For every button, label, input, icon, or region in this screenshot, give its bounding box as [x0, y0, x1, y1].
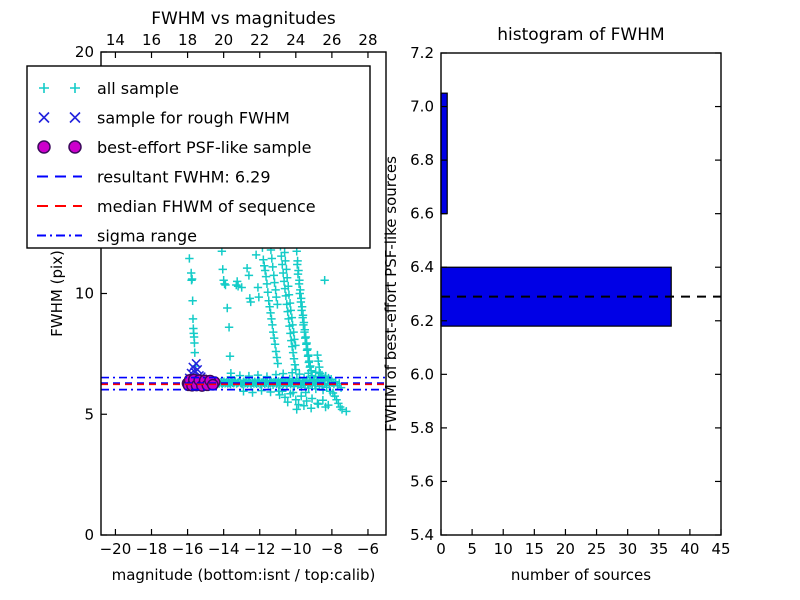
marker-plus	[190, 339, 198, 347]
legend-label-1: sample for rough FWHM	[97, 109, 290, 128]
histogram-xticklabel: 5	[467, 540, 477, 558]
scatter-top-ticklabel: 24	[286, 31, 305, 49]
marker-plus	[273, 300, 281, 308]
histogram-yticklabel: 6.2	[410, 312, 434, 330]
histogram-yticklabel: 7.2	[410, 44, 434, 62]
histogram-xticklabel: 10	[494, 540, 513, 558]
scatter-xticklabel: −10	[280, 540, 312, 558]
legend-label-3: resultant FWHM: 6.29	[97, 168, 271, 187]
histogram-yticklabel: 6.0	[410, 365, 434, 383]
histogram-xticklabel: 15	[525, 540, 544, 558]
histogram-yticklabel: 6.6	[410, 205, 434, 223]
marker-plus	[307, 404, 315, 412]
marker-plus	[272, 347, 280, 355]
scatter-top-ticklabel: 18	[178, 31, 197, 49]
legend-marker-circle	[38, 141, 50, 153]
histogram-xticklabel: 45	[711, 540, 730, 558]
scatter-yticklabel: 0	[84, 526, 94, 544]
scatter-xticklabel: −12	[244, 540, 276, 558]
scatter-top-ticklabel: 14	[106, 31, 125, 49]
marker-plus	[265, 303, 273, 311]
marker-plus	[261, 266, 269, 274]
marker-plus	[274, 359, 282, 367]
histogram-xlabel: number of sources	[511, 566, 651, 584]
histogram-ylabel: FWHM of best-effort PSF-like sources	[382, 156, 400, 432]
matplotlib-figure: FWHM vs magnitudes−20−18−16−14−12−10−8−6…	[0, 0, 800, 600]
legend-box	[27, 66, 370, 248]
legend-label-4: median FHWM of sequence	[97, 197, 316, 216]
marker-plus	[219, 265, 227, 273]
marker-plus	[303, 346, 311, 354]
marker-plus	[270, 271, 278, 279]
marker-plus	[268, 254, 276, 262]
legend-label-2: best-effort PSF-like sample	[97, 138, 311, 157]
marker-plus	[269, 263, 277, 271]
scatter-title: FWHM vs magnitudes	[151, 9, 336, 29]
histogram-plot: histogram of FWHM051015202530354045numbe…	[382, 25, 731, 584]
marker-plus	[290, 355, 298, 363]
marker-plus	[293, 405, 301, 413]
scatter-xticklabel: −20	[100, 540, 132, 558]
marker-plus	[271, 286, 279, 294]
histogram-xticklabel: 25	[587, 540, 606, 558]
marker-plus	[267, 315, 275, 323]
legend-marker-circle	[69, 141, 81, 153]
marker-plus	[270, 334, 278, 342]
marker-plus	[188, 275, 196, 283]
marker-plus	[269, 328, 277, 336]
scatter-top-ticklabel: 20	[214, 31, 233, 49]
histogram-yticklabel: 5.4	[410, 526, 434, 544]
marker-plus	[273, 353, 281, 361]
histogram-yticklabel: 7.0	[410, 98, 434, 116]
marker-plus	[191, 348, 199, 356]
marker-plus	[239, 387, 247, 395]
histogram-xticklabel: 30	[618, 540, 637, 558]
marker-plus	[291, 361, 299, 369]
marker-plus	[254, 283, 262, 291]
marker-plus	[189, 315, 197, 323]
marker-plus	[289, 348, 297, 356]
marker-plus	[255, 293, 263, 301]
marker-plus	[262, 272, 270, 280]
scatter-xlabel: magnitude (bottom:isnt / top:calib)	[112, 566, 376, 584]
marker-plus	[243, 264, 251, 272]
scatter-top-ticklabel: 26	[322, 31, 341, 49]
legend-label-0: all sample	[97, 79, 179, 98]
histogram-yticklabel: 5.6	[410, 472, 434, 490]
scatter-xticklabel: −8	[321, 540, 343, 558]
marker-plus	[221, 281, 229, 289]
scatter-top-ticklabel: 16	[142, 31, 161, 49]
marker-plus	[245, 271, 253, 279]
histogram-yticklabel: 6.8	[410, 151, 434, 169]
marker-plus	[268, 321, 276, 329]
marker-plus	[225, 323, 233, 331]
marker-plus	[270, 278, 278, 286]
marker-plus	[314, 400, 322, 408]
marker-plus	[265, 297, 273, 305]
marker-plus	[264, 288, 272, 296]
marker-plus	[320, 276, 328, 284]
marker-plus	[271, 340, 279, 348]
scatter-xticklabel: −14	[208, 540, 240, 558]
marker-plus	[279, 369, 287, 377]
scatter-xticklabel: −18	[136, 540, 168, 558]
marker-plus	[266, 309, 274, 317]
marker-plus	[313, 351, 321, 359]
histogram-yticklabel: 5.8	[410, 419, 434, 437]
figure-canvas: FWHM vs magnitudes−20−18−16−14−12−10−8−6…	[0, 0, 800, 600]
scatter-yticklabel: 5	[84, 405, 94, 423]
histogram-xticklabel: 0	[436, 540, 446, 558]
scatter-ylabel: FWHM (pix)	[48, 250, 66, 337]
scatter-xticklabel: −16	[172, 540, 204, 558]
scatter-top-ticklabel: 28	[358, 31, 377, 49]
scatter-yticklabel: 10	[75, 285, 94, 303]
marker-plus	[263, 280, 271, 288]
marker-plus	[187, 269, 195, 277]
marker-plus	[226, 352, 234, 360]
histogram-bar	[441, 93, 447, 213]
marker-plus	[252, 251, 260, 259]
marker-plus	[301, 334, 309, 342]
marker-plus	[342, 407, 350, 415]
legend: all samplesample for rough FWHMbest-effo…	[27, 66, 370, 248]
scatter-yticklabel: 20	[75, 43, 94, 61]
histogram-xticklabel: 20	[556, 540, 575, 558]
marker-plus	[260, 262, 268, 270]
marker-plus	[223, 304, 231, 312]
scatter-top-ticklabel: 22	[250, 31, 269, 49]
marker-plus	[314, 357, 322, 365]
histogram-yticklabel: 6.4	[410, 258, 434, 276]
histogram-xticklabel: 35	[649, 540, 668, 558]
marker-plus	[185, 254, 193, 262]
histogram-xticklabel: 40	[680, 540, 699, 558]
marker-plus	[188, 297, 196, 305]
scatter-xticklabel: −6	[357, 540, 379, 558]
marker-plus	[259, 255, 267, 263]
histogram-title: histogram of FWHM	[497, 25, 664, 45]
legend-label-5: sigma range	[97, 227, 197, 246]
marker-plus	[272, 293, 280, 301]
